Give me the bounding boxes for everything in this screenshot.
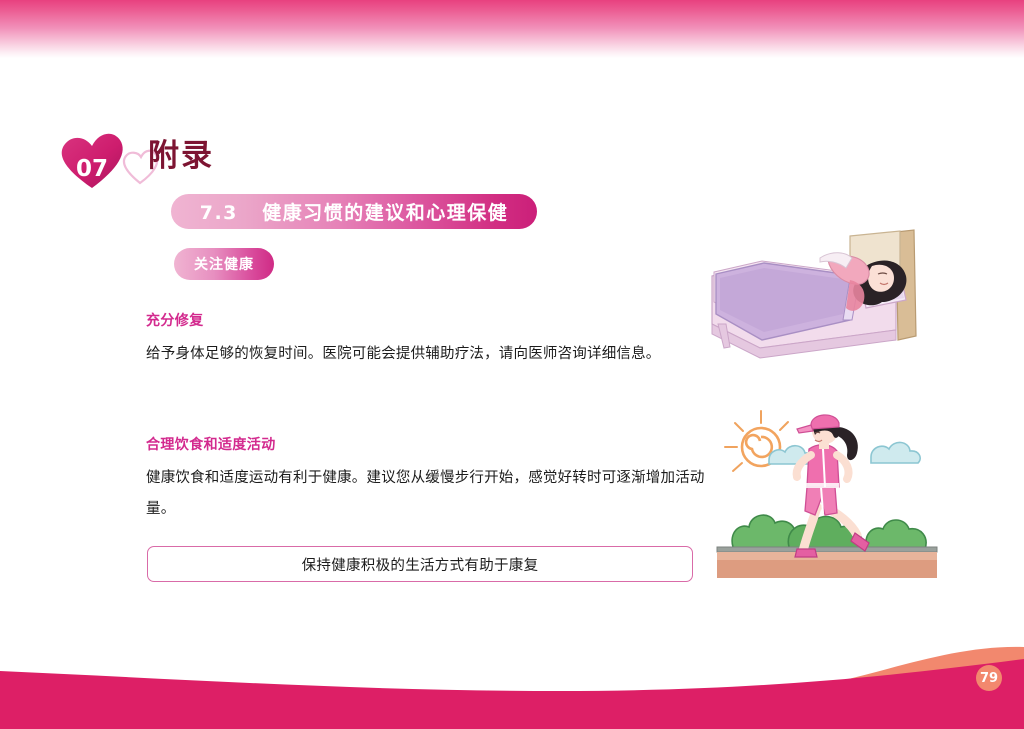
body-text-recovery: 给予身体足够的恢复时间。医院可能会提供辅助疗法，请向医师咨询详细信息。 <box>146 339 708 370</box>
section-heading-text: 7.3 健康习惯的建议和心理保健 <box>200 198 509 225</box>
page-number-badge: 79 <box>976 665 1002 691</box>
bushes <box>732 515 926 549</box>
illustration-woman-jogging <box>705 395 949 580</box>
page-title: 附录 <box>148 136 214 176</box>
content-block-recovery: 充分修复 给予身体足够的恢复时间。医院可能会提供辅助疗法，请向医师咨询详细信息。 <box>146 310 708 370</box>
body-text-diet-activity: 健康饮食和适度运动有利于健康。建议您从缓慢步行开始，感觉好转时可逐渐增加活动量。 <box>146 463 708 525</box>
callout-text: 保持健康积极的生活方式有助于康复 <box>302 554 539 575</box>
section-tag-text: 关注健康 <box>194 254 254 274</box>
subheading-recovery: 充分修复 <box>146 310 708 330</box>
illustration-woman-sleeping <box>700 228 960 364</box>
section-heading-pill: 7.3 健康习惯的建议和心理保健 <box>171 194 537 229</box>
bottom-wave-decoration <box>0 619 1024 729</box>
section-tag-pill: 关注健康 <box>174 248 274 280</box>
document-page: 07 附录 7.3 健康习惯的建议和心理保健 关注健康 充分修复 给予身体足够的… <box>0 0 1024 729</box>
content-block-diet-activity: 合理饮食和适度活动 健康饮食和适度运动有利于健康。建议您从缓慢步行开始，感觉好转… <box>146 434 708 525</box>
callout-box: 保持健康积极的生活方式有助于康复 <box>147 546 693 582</box>
subheading-diet-activity: 合理饮食和适度活动 <box>146 434 708 454</box>
chapter-number: 07 <box>76 156 108 182</box>
top-banner-gradient <box>0 0 1024 58</box>
cloud-icon-right <box>871 442 920 463</box>
